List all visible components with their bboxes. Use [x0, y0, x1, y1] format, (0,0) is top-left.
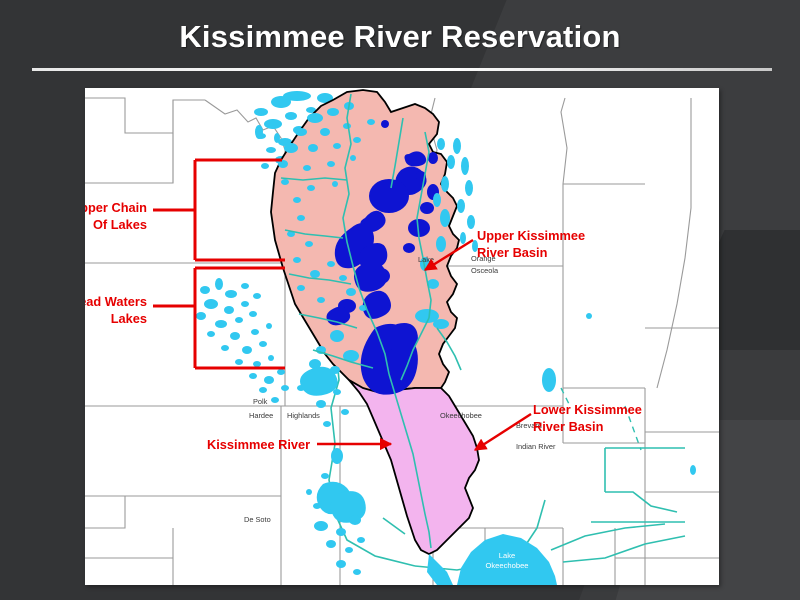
county-label-indian-river: Indian River [516, 442, 556, 451]
title-block: Kissimmee River Reservation [0, 0, 800, 88]
annotation-upper-basin-line2: River Basin [477, 245, 548, 260]
annotation-head-waters-line2: Lakes [111, 311, 147, 326]
county-label-polk: Polk [253, 397, 268, 406]
lake-okeechobee-label-line1: Lake [499, 551, 515, 560]
county-label-osceola: Osceola [471, 266, 499, 275]
lake-okeechobee-label-line2: Okeechobee [485, 561, 528, 570]
county-label-lake: Lake [418, 255, 434, 264]
annotation-kissimmee-river-line1: Kissimmee River [207, 437, 310, 452]
county-label-hardee: Hardee [249, 411, 273, 420]
title-divider [32, 68, 772, 71]
annotation-lower-basin-line1: Lower Kissimmee [533, 402, 642, 417]
annotation-upper-chain-line2: Of Lakes [93, 217, 147, 232]
county-label-de-soto: De Soto [244, 515, 271, 524]
annotation-label-kissimmee-river: Kissimmee River [207, 437, 310, 452]
annotation-lower-basin-line2: River Basin [533, 419, 604, 434]
kissimmee-basin-map: Lake Orange Osceola Brevard Indian River… [85, 88, 719, 585]
map-panel: Lake Orange Osceola Brevard Indian River… [85, 88, 719, 585]
county-label-highlands: Highlands [287, 411, 320, 420]
annotation-head-waters-line1: Head Waters [85, 294, 147, 309]
annotation-upper-chain-line1: Upper Chain [85, 200, 147, 215]
annotation-upper-basin-line1: Upper Kissimmee [477, 228, 585, 243]
county-label-okeechobee: Okeechobee [440, 411, 482, 420]
page-title: Kissimmee River Reservation [0, 19, 800, 55]
slide-canvas: Kissimmee River Reservation [0, 0, 800, 600]
